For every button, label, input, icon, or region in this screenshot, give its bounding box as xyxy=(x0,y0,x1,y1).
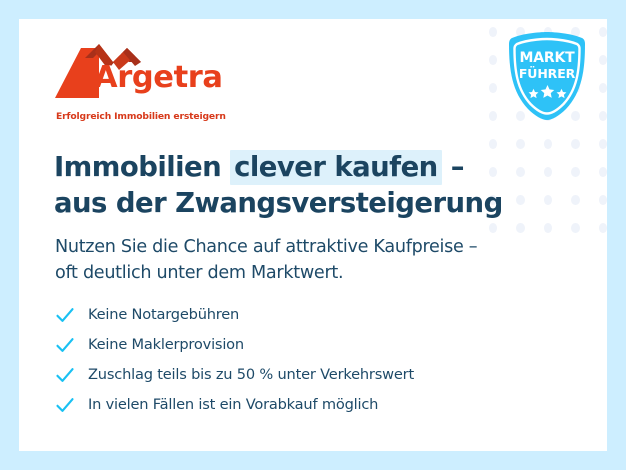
dot xyxy=(489,27,497,37)
market-leader-badge: MARKT FÜHRER xyxy=(504,30,590,122)
promo-banner: Argetra Erfolgreich Immobilien ersteiger… xyxy=(0,0,626,470)
headline-part-before: Immobilien xyxy=(54,151,230,183)
star-icon xyxy=(528,88,539,99)
subheadline-line-2: oft deutlich unter dem Marktwert. xyxy=(55,260,545,286)
argetra-logo[interactable]: Argetra Erfolgreich Immobilien ersteiger… xyxy=(55,42,230,122)
list-item-label: In vielen Fällen ist ein Vorabkauf mögli… xyxy=(88,398,378,413)
dot xyxy=(489,55,497,65)
check-icon xyxy=(55,335,75,355)
dot xyxy=(599,167,607,177)
benefits-checklist: Keine NotargebührenKeine Maklerprovision… xyxy=(55,300,525,420)
dot xyxy=(599,55,607,65)
check-icon xyxy=(55,395,75,415)
dot xyxy=(544,223,552,233)
dot xyxy=(516,139,524,149)
logo-wordmark: Argetra xyxy=(94,63,223,94)
dot xyxy=(571,223,579,233)
list-item-label: Keine Notargebühren xyxy=(88,308,239,323)
page-title: Immobilien clever kaufen – aus der Zwang… xyxy=(54,150,534,220)
list-item: Zuschlag teils bis zu 50 % unter Verkehr… xyxy=(55,360,525,390)
banner-card: Argetra Erfolgreich Immobilien ersteiger… xyxy=(19,19,607,451)
dot-row xyxy=(477,139,607,149)
star-icon xyxy=(556,88,567,99)
subheadline-line-1: Nutzen Sie die Chance auf attraktive Kau… xyxy=(55,234,545,260)
badge-text-block: MARKT FÜHRER xyxy=(504,30,590,122)
dot xyxy=(599,111,607,121)
headline-line-2: aus der Zwangsversteigerung xyxy=(54,186,534,221)
badge-line-2: FÜHRER xyxy=(519,66,575,81)
dot xyxy=(571,139,579,149)
star-icon xyxy=(540,84,555,99)
list-item-label: Keine Maklerprovision xyxy=(88,338,244,353)
dot xyxy=(544,139,552,149)
dot xyxy=(571,167,579,177)
dot xyxy=(489,111,497,121)
dot xyxy=(599,27,607,37)
list-item-label: Zuschlag teils bis zu 50 % unter Verkehr… xyxy=(88,368,414,383)
headline-highlight: clever kaufen xyxy=(230,150,442,185)
check-icon xyxy=(55,305,75,325)
badge-line-1: MARKT xyxy=(520,51,575,66)
list-item: Keine Maklerprovision xyxy=(55,330,525,360)
dot xyxy=(489,83,497,93)
logo-tagline: Erfolgreich Immobilien ersteigern xyxy=(56,111,226,122)
list-item: Keine Notargebühren xyxy=(55,300,525,330)
list-item: In vielen Fällen ist ein Vorabkauf mögli… xyxy=(55,390,525,420)
dot xyxy=(599,195,607,205)
dot-row xyxy=(477,223,607,233)
badge-star-rating xyxy=(528,84,567,99)
check-icon xyxy=(55,365,75,385)
dot xyxy=(489,223,497,233)
dot xyxy=(571,195,579,205)
dot xyxy=(544,167,552,177)
dot xyxy=(599,223,607,233)
dot xyxy=(599,139,607,149)
dot xyxy=(544,195,552,205)
dot xyxy=(599,83,607,93)
dot xyxy=(489,139,497,149)
headline-part-after: – xyxy=(442,151,464,183)
dot xyxy=(516,223,524,233)
subheadline: Nutzen Sie die Chance auf attraktive Kau… xyxy=(55,234,545,286)
